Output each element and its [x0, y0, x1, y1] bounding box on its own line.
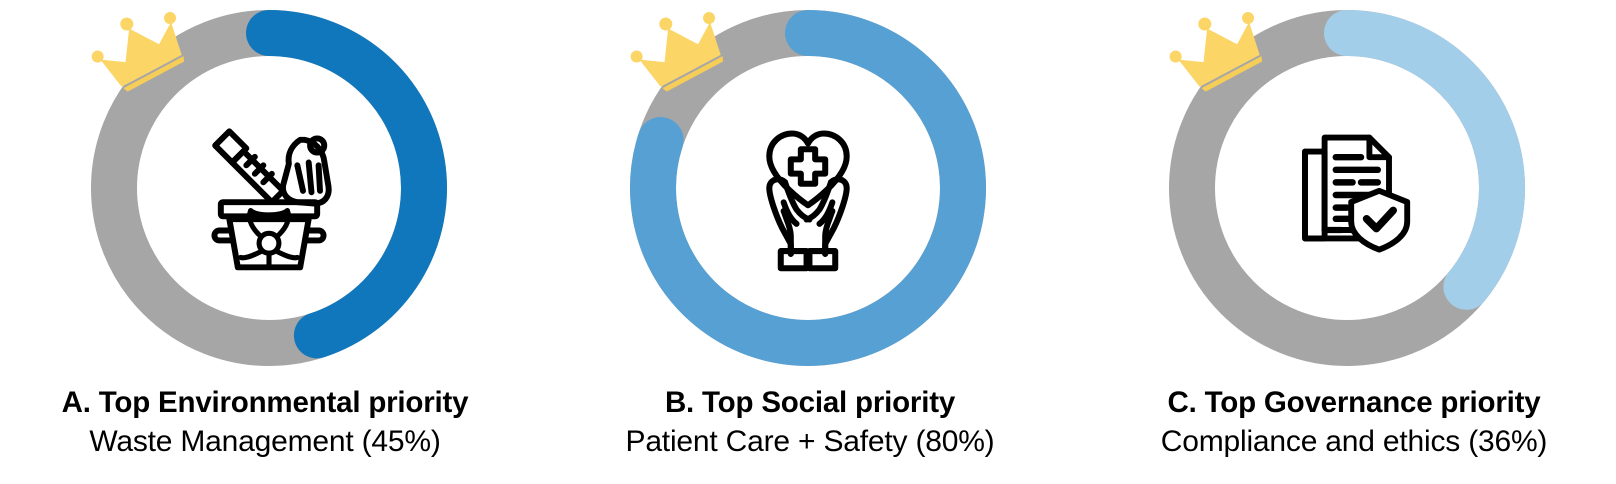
heart-in-hands-icon — [713, 93, 903, 283]
shield-check-badge — [1351, 191, 1407, 250]
left-hand — [769, 179, 809, 268]
right-hand — [807, 179, 847, 268]
donut-gauge-social — [622, 2, 994, 378]
panel-captions-social: B. Top Social priority Patient Care + Sa… — [537, 386, 1079, 460]
panel-environmental: A. Top Environmental priority Waste Mana… — [0, 0, 538, 484]
biohazard-waste-bin-icon — [174, 93, 364, 283]
panel-title: B. Top Social priority — [541, 386, 1079, 419]
syringe-part — [215, 131, 283, 202]
panel-captions-governance: C. Top Governance priority Compliance an… — [1071, 386, 1616, 460]
heart-shape — [769, 134, 846, 206]
medical-glove-part — [283, 138, 329, 203]
donut-gauge-environmental — [83, 2, 455, 378]
panel-title: A. Top Environmental priority — [0, 386, 534, 419]
panel-governance: C. Top Governance priority Compliance an… — [1078, 0, 1616, 484]
donut-gauge-governance — [1161, 2, 1533, 378]
medical-cross — [791, 149, 825, 183]
panel-title: C. Top Governance priority — [1085, 386, 1616, 419]
panel-subtitle: Patient Care + Safety (80%) — [541, 424, 1079, 460]
document-shield-check-icon — [1252, 93, 1442, 283]
panel-social: B. Top Social priority Patient Care + Sa… — [539, 0, 1077, 484]
panel-subtitle: Waste Management (45%) — [0, 424, 534, 460]
esg-priority-donut-figure: A. Top Environmental priority Waste Mana… — [0, 0, 1616, 484]
panel-subtitle: Compliance and ethics (36%) — [1085, 424, 1616, 460]
panel-captions-environmental: A. Top Environmental priority Waste Mana… — [0, 386, 542, 460]
